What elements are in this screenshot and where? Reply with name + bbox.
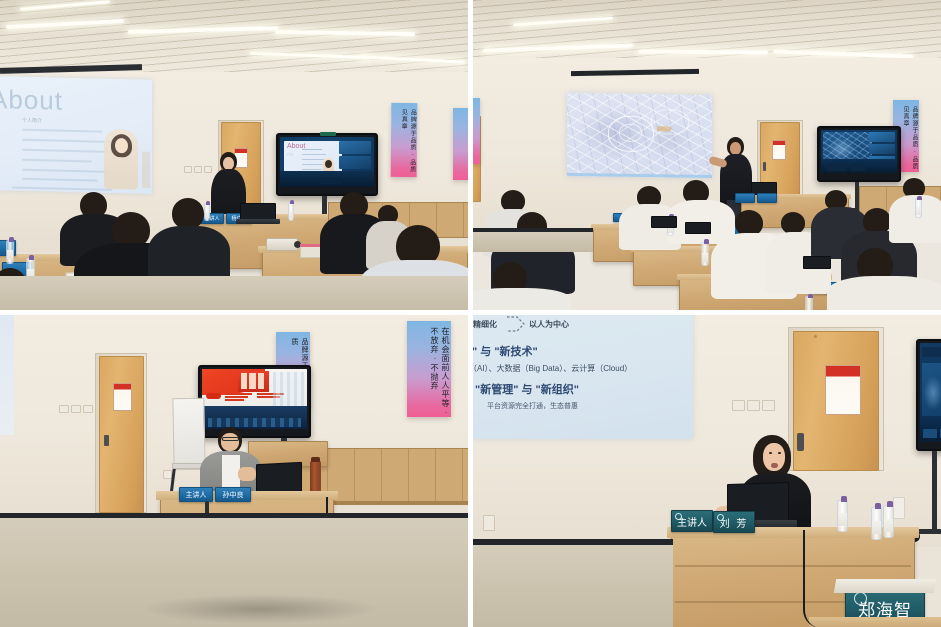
- door-peephole: [814, 335, 817, 338]
- slide-title: About: [0, 84, 63, 117]
- photo-top-right: 品牌源于品质 · 品质见真章: [473, 0, 941, 310]
- door-notice: [825, 365, 861, 415]
- thermos-flask[interactable]: [310, 461, 321, 493]
- tv-camera: [320, 132, 336, 136]
- laptop-screen[interactable]: [803, 256, 831, 269]
- projected-slide: 精细化 以人为中心 素" 与 "新技术" 能（AI）、大数据（Big Data）…: [473, 315, 693, 439]
- slide-subtitle: 个人简介: [22, 117, 42, 124]
- tv-stand: [932, 451, 937, 531]
- laptop-base[interactable]: [236, 219, 280, 224]
- nameplate-emblem: [675, 513, 682, 520]
- nameplate-name: 刘 芳: [713, 511, 755, 533]
- wall-banner-partial: [473, 98, 480, 164]
- nameplate-emblem: [717, 514, 724, 521]
- wall-socket[interactable]: [204, 166, 212, 173]
- interactive-tv[interactable]: About me: [276, 133, 378, 196]
- water-bottle[interactable]: [701, 242, 709, 266]
- wall-socket[interactable]: [747, 400, 760, 411]
- water-bottle[interactable]: [837, 500, 848, 532]
- interactive-tv[interactable]: [817, 126, 901, 182]
- desk-panel-line: [675, 565, 911, 567]
- presenter-face: [221, 433, 239, 451]
- slide-line4: "新管理" 与 "新组织": [475, 381, 579, 397]
- water-bottle[interactable]: [915, 198, 922, 218]
- water-bottle[interactable]: [288, 202, 294, 221]
- projected-map: [567, 93, 712, 178]
- wall-socket[interactable]: [483, 515, 495, 531]
- wall-socket[interactable]: [59, 405, 69, 413]
- interactive-tv[interactable]: [916, 339, 941, 451]
- projected-slide: About 个人简介: [0, 76, 152, 194]
- photo-collage: About 个人简介 品牌源于品质 · 品质见真章: [0, 0, 941, 627]
- interactive-tv[interactable]: [198, 365, 311, 438]
- projection-edge: [0, 315, 14, 435]
- water-bottle[interactable]: [805, 296, 813, 310]
- photo-bottom-left: 品牌源于品质 · 品质 在机会面前人人平等 · 不放弃 · 不抛弃: [0, 315, 468, 627]
- floor: [473, 232, 593, 252]
- laptop-screen[interactable]: [685, 222, 711, 234]
- water-bottle[interactable]: [871, 507, 882, 540]
- door-handle[interactable]: [104, 435, 109, 446]
- audience-body: [827, 276, 941, 310]
- slide-line1-left: 精细化: [473, 319, 497, 330]
- door-handle[interactable]: [797, 433, 804, 451]
- water-bottle[interactable]: [204, 203, 210, 221]
- laptop-screen[interactable]: [240, 203, 276, 220]
- nameplate-role: 主讲人: [179, 487, 213, 502]
- wall-socket[interactable]: [732, 400, 745, 411]
- laptop-screen[interactable]: [651, 216, 677, 228]
- laptop-screen[interactable]: [256, 462, 302, 494]
- audience-head: [781, 212, 805, 234]
- wall-banner-right: 在机会面前人人平等 · 不放弃 · 不抛弃: [407, 321, 451, 417]
- door-notice: [772, 140, 786, 160]
- tissue-box: [893, 497, 905, 519]
- wall-socket[interactable]: [83, 405, 93, 413]
- slide-line1-right: 以人为中心: [529, 319, 569, 330]
- foreground-desk: [809, 617, 941, 627]
- water-bottle[interactable]: [6, 240, 14, 264]
- flipchart-board[interactable]: [172, 398, 205, 471]
- wall-socket[interactable]: [194, 166, 202, 173]
- thermos-cap: [311, 457, 320, 462]
- eyeglasses: [222, 437, 239, 441]
- power-cable: [803, 530, 821, 627]
- arrow-right-icon: [505, 315, 527, 333]
- slide-line3: 能（AI）、大数据（Big Data）、云计算（Cloud）: [473, 363, 632, 374]
- floor: [0, 276, 468, 310]
- nameplate-name: 孙中良: [215, 487, 251, 502]
- wall-banner-partial: [453, 108, 468, 180]
- door-handle[interactable]: [763, 162, 766, 171]
- wall-banner: 品牌源于品质 · 品质见真章: [391, 103, 418, 177]
- floor: [473, 545, 673, 627]
- slide-line5: 平台资源完全打通，生态普惠: [487, 401, 578, 411]
- nameplate: [757, 193, 777, 203]
- nameplate: [735, 193, 755, 203]
- paper-band: [300, 244, 322, 247]
- floor: [0, 518, 468, 627]
- nameplate-stand: [834, 579, 936, 593]
- wall-socket[interactable]: [184, 166, 192, 173]
- door-notice: [113, 383, 132, 411]
- wall-socket[interactable]: [71, 405, 81, 413]
- audience-head: [172, 198, 204, 229]
- photo-bottom-right: 精细化 以人为中心 素" 与 "新技术" 能（AI）、大数据（Big Data）…: [473, 315, 941, 627]
- photo-top-left: About 个人简介 品牌源于品质 · 品质见真章: [0, 0, 468, 310]
- nameplate-role: 主讲人: [671, 510, 713, 532]
- wall-socket[interactable]: [762, 400, 775, 411]
- nameplate-emblem: [854, 592, 867, 605]
- presenter-hand: [238, 467, 256, 481]
- audience-body: [473, 288, 571, 310]
- slide-line2: 素" 与 "新技术": [473, 343, 538, 359]
- ceiling: [473, 0, 941, 64]
- tv-slide-subtitle: me: [287, 152, 294, 158]
